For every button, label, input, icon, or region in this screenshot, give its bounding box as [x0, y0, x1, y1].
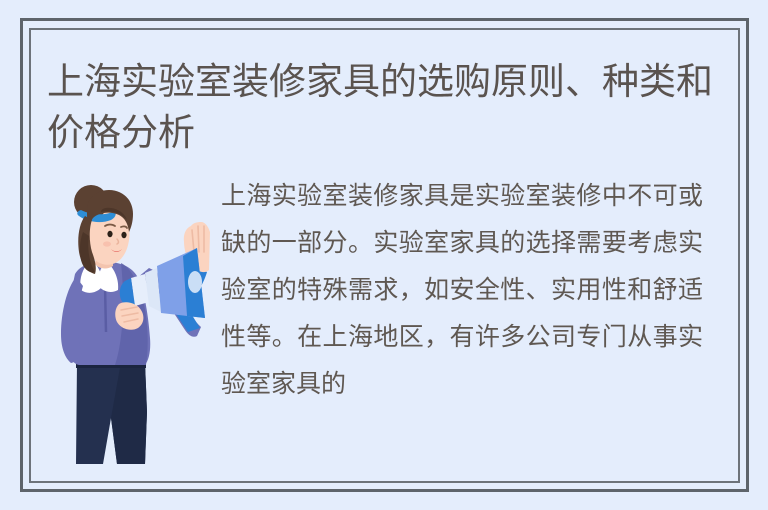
article-body: 上海实验室装修家具是实验室装修中不可或缺的一部分。实验室家具的选择需要考虑实验室… [221, 173, 703, 408]
woman-with-megaphone-illustration [45, 182, 210, 467]
page-title: 上海实验室装修家具的选购原则、种类和价格分析 [47, 56, 719, 158]
card-content: 上海实验室装修家具的选购原则、种类和价格分析 [0, 0, 768, 510]
article-card: 上海实验室装修家具的选购原则、种类和价格分析 [0, 0, 768, 510]
